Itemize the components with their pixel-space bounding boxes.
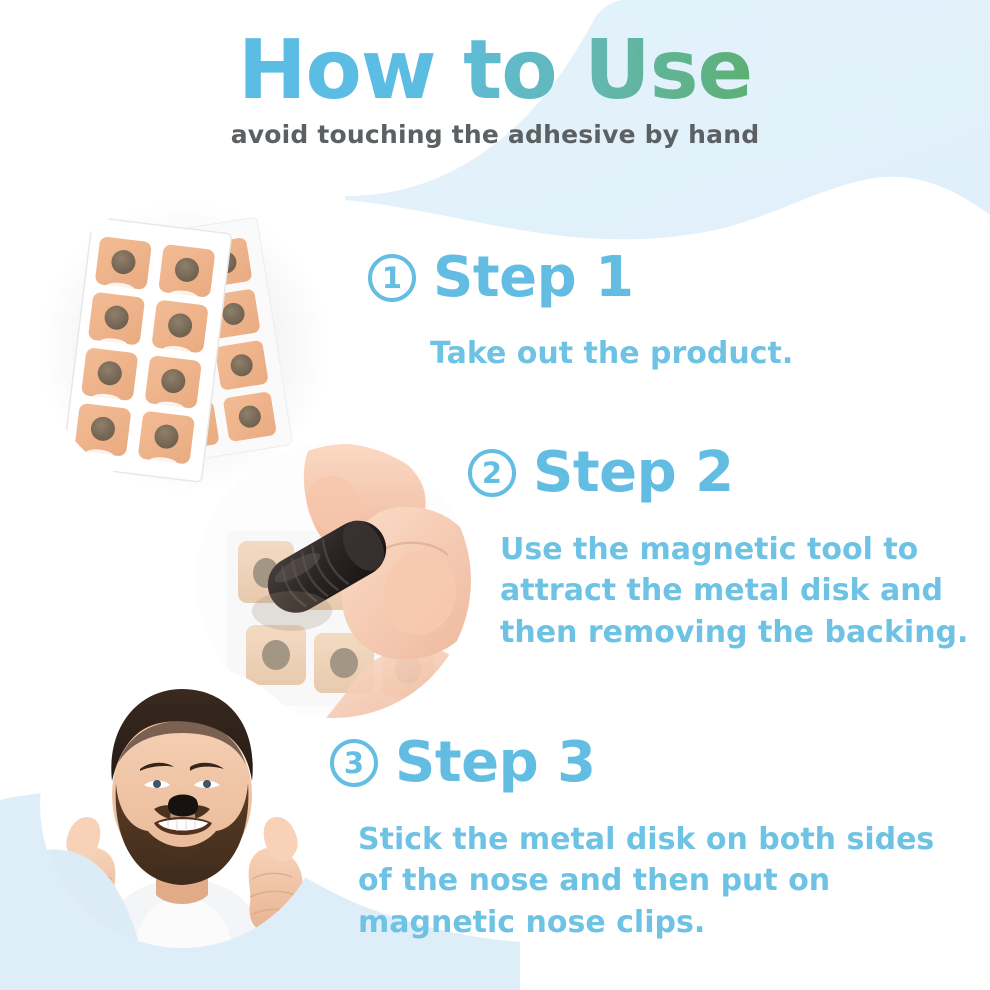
header: How to Use avoid touching the adhesive b… (0, 28, 990, 149)
photo-step-3-man-thumbs-up (40, 663, 325, 948)
step-3-body: Stick the metal disk on both sides of th… (358, 819, 958, 943)
step-3-number-badge: 3 (330, 739, 378, 787)
step-3-title: Step 3 (395, 735, 596, 791)
how-to-use-infographic: How to Use avoid touching the adhesive b… (0, 0, 990, 990)
step-2-body: Use the magnetic tool to attract the met… (500, 529, 970, 653)
step-2: 2 Step 2 Use the magnetic tool to attrac… (468, 445, 970, 653)
step-1-heading: 1 Step 1 (368, 250, 793, 306)
step-1-title: Step 1 (433, 250, 634, 306)
photo-step-1-product-sheets (38, 198, 330, 490)
step-1-number-badge: 1 (368, 254, 416, 302)
step-2-heading: 2 Step 2 (468, 445, 970, 501)
step-1: 1 Step 1 Take out the product. (368, 250, 793, 374)
step-1-body: Take out the product. (430, 333, 793, 374)
step-2-number-badge: 2 (468, 449, 516, 497)
step-3-heading: 3 Step 3 (330, 735, 958, 791)
step-3: 3 Step 3 Stick the metal disk on both si… (330, 735, 958, 943)
page-subtitle: avoid touching the adhesive by hand (0, 120, 990, 149)
step-2-title: Step 2 (533, 445, 734, 501)
page-title: How to Use (0, 28, 990, 114)
